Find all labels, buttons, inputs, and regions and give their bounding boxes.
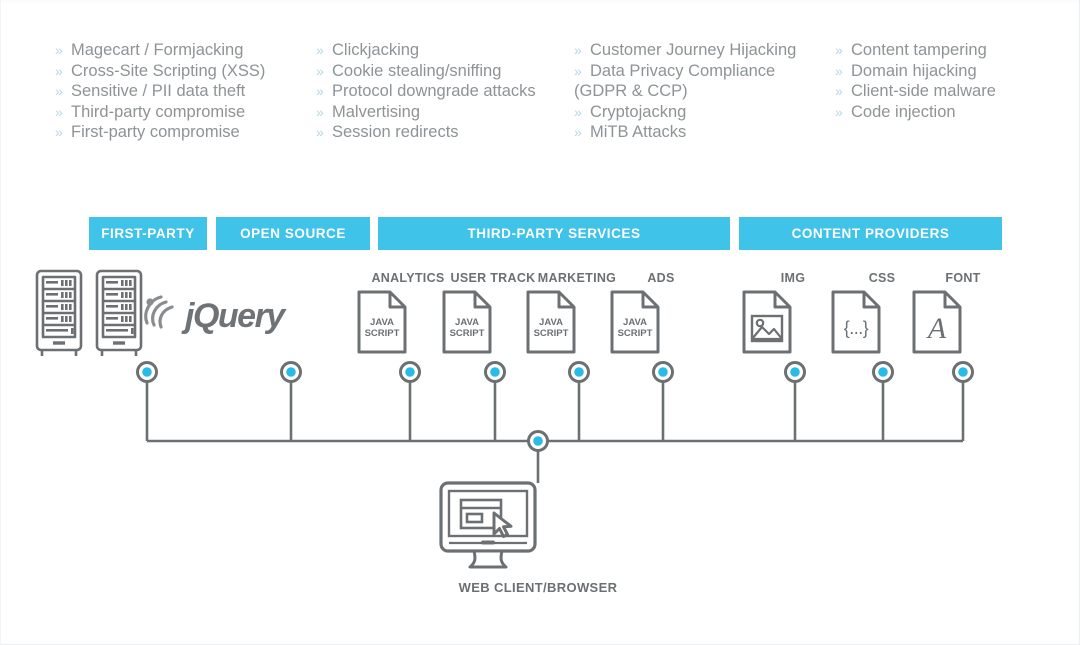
category-banner-third-party-services[interactable]: THIRD-PARTY SERVICES <box>378 217 730 250</box>
node-label-ads: ADS <box>647 271 674 285</box>
node-label-css: CSS <box>869 271 896 285</box>
node-label-user-track: USER TRACK <box>451 271 536 285</box>
threat-item: »Code injection <box>835 102 996 123</box>
threat-item: »Data Privacy Compliance <box>574 61 796 82</box>
threat-item: »Sensitive / PII data theft <box>55 81 265 102</box>
threat-text: Content tampering <box>851 41 987 59</box>
font-file-icon[interactable]: A <box>937 289 989 355</box>
connector-dot-analytics <box>401 363 420 382</box>
js-label-line2: SCRIPT <box>534 328 569 339</box>
threat-item: »Clickjacking <box>316 40 536 61</box>
threat-text: Third-party compromise <box>71 103 245 121</box>
threat-item: »Malvertising <box>316 102 536 123</box>
chevron-bullet-icon: » <box>574 122 583 143</box>
connector-dot-css <box>874 363 893 382</box>
threat-text: Magecart / Formjacking <box>71 41 243 59</box>
connector-dot-bus-junction <box>529 432 548 451</box>
chevron-bullet-icon: » <box>574 61 583 82</box>
threat-text: Protocol downgrade attacks <box>332 82 536 100</box>
connector-dot-marketing <box>570 363 589 382</box>
threat-text: Clickjacking <box>332 41 419 59</box>
threat-item: »Session redirects <box>316 122 536 143</box>
category-banner-open-source[interactable]: OPEN SOURCE <box>216 217 370 250</box>
connector-dot-open-source <box>282 363 301 382</box>
image-file-icon[interactable] <box>767 289 819 355</box>
chevron-bullet-icon: » <box>55 102 64 123</box>
threat-item: »Content tampering <box>835 40 996 61</box>
threat-text: First-party compromise <box>71 123 240 141</box>
threat-text: Cryptojackng <box>590 103 686 121</box>
monitor-browser-cursor-icon[interactable] <box>488 481 588 573</box>
js-label-line2: SCRIPT <box>365 328 400 339</box>
font-glyph: A <box>926 312 947 345</box>
threat-item: »Cookie stealing/sniffing <box>316 61 536 82</box>
threat-text: Customer Journey Hijacking <box>590 41 796 59</box>
jquery-wordmark: jQuery <box>181 297 287 335</box>
threat-item: »Client-side malware <box>835 81 996 102</box>
css-glyph: {...} <box>844 318 869 338</box>
threat-item: »Customer Journey Hijacking <box>574 40 796 61</box>
chevron-bullet-icon: » <box>316 40 325 61</box>
javascript-file-icon-ads[interactable]: JAVA SCRIPT <box>635 289 687 355</box>
css-file-icon[interactable]: {...} <box>856 289 908 355</box>
threat-text: Sensitive / PII data theft <box>71 82 245 100</box>
threat-text: (GDPR & CCP) <box>574 82 688 100</box>
javascript-file-icon-user-track[interactable]: JAVA SCRIPT <box>467 289 519 355</box>
js-label-line1: JAVA <box>455 317 479 328</box>
threat-text: Domain hijacking <box>851 62 977 80</box>
chevron-bullet-icon: » <box>835 61 844 82</box>
threat-text: MiTB Attacks <box>590 123 686 141</box>
connector-dot-font <box>954 363 973 382</box>
threat-item: »Cryptojackng <box>574 102 796 123</box>
chevron-bullet-icon: » <box>55 81 64 102</box>
connector-dots <box>138 363 973 451</box>
chevron-bullet-icon: » <box>55 61 64 82</box>
threat-list: »Magecart / Formjacking »Cross-Site Scri… <box>1 40 1080 170</box>
threat-column-2: »Clickjacking »Cookie stealing/sniffing … <box>316 40 536 143</box>
jquery-logo-icon[interactable]: jQuery <box>216 293 366 339</box>
chevron-bullet-icon: » <box>835 40 844 61</box>
js-label-line1: JAVA <box>370 317 394 328</box>
connector-dot-img <box>786 363 805 382</box>
threat-column-4: »Content tampering »Domain hijacking »Cl… <box>835 40 996 122</box>
js-label-line1: JAVA <box>623 317 647 328</box>
node-label-font: FONT <box>945 271 980 285</box>
js-label-line1: JAVA <box>539 317 563 328</box>
threat-column-3: »Customer Journey Hijacking »Data Privac… <box>574 40 796 143</box>
node-label-analytics: ANALYTICS <box>371 271 444 285</box>
threat-text: Malvertising <box>332 103 420 121</box>
threat-item-continuation: »(GDPR & CCP) <box>574 81 796 102</box>
js-label-line2: SCRIPT <box>450 328 485 339</box>
js-label-line2: SCRIPT <box>618 328 653 339</box>
chevron-bullet-icon: » <box>55 40 64 61</box>
chevron-bullet-icon: » <box>316 61 325 82</box>
connector-dot-user-track <box>486 363 505 382</box>
threat-item: »Magecart / Formjacking <box>55 40 265 61</box>
category-banner-first-party[interactable]: FIRST-PARTY <box>89 217 207 250</box>
chevron-bullet-icon: » <box>316 102 325 123</box>
chevron-bullet-icon: » <box>316 122 325 143</box>
chevron-bullet-icon: » <box>316 81 325 102</box>
chevron-bullet-icon: » <box>574 102 583 123</box>
threat-column-1: »Magecart / Formjacking »Cross-Site Scri… <box>55 40 265 143</box>
threat-text: Code injection <box>851 103 956 121</box>
threat-text: Cookie stealing/sniffing <box>332 62 501 80</box>
chevron-bullet-icon: » <box>835 81 844 102</box>
connector-dot-ads <box>654 363 673 382</box>
threat-item: »Cross-Site Scripting (XSS) <box>55 61 265 82</box>
threat-text: Data Privacy Compliance <box>590 62 775 80</box>
javascript-file-icon-marketing[interactable]: JAVA SCRIPT <box>551 289 603 355</box>
threat-text: Session redirects <box>332 123 459 141</box>
diagram-canvas: »Magecart / Formjacking »Cross-Site Scri… <box>0 0 1080 645</box>
connector-dot-first-party <box>138 363 157 382</box>
threat-text: Client-side malware <box>851 82 996 100</box>
chevron-bullet-icon: » <box>55 122 64 143</box>
threat-item: »First-party compromise <box>55 122 265 143</box>
threat-item: »Domain hijacking <box>835 61 996 82</box>
node-label-marketing: MARKETING <box>538 271 616 285</box>
javascript-file-icon-analytics[interactable]: JAVA SCRIPT <box>382 289 434 355</box>
browser-caption: WEB CLIENT/BROWSER <box>459 580 618 595</box>
threat-item: »Third-party compromise <box>55 102 265 123</box>
threat-text: Cross-Site Scripting (XSS) <box>71 62 265 80</box>
category-banner-content-providers[interactable]: CONTENT PROVIDERS <box>739 217 1002 250</box>
threat-item: »Protocol downgrade attacks <box>316 81 536 102</box>
threat-item: »MiTB Attacks <box>574 122 796 143</box>
chevron-bullet-icon: » <box>835 102 844 123</box>
node-label-img: IMG <box>781 271 806 285</box>
chevron-bullet-icon: » <box>574 40 583 61</box>
